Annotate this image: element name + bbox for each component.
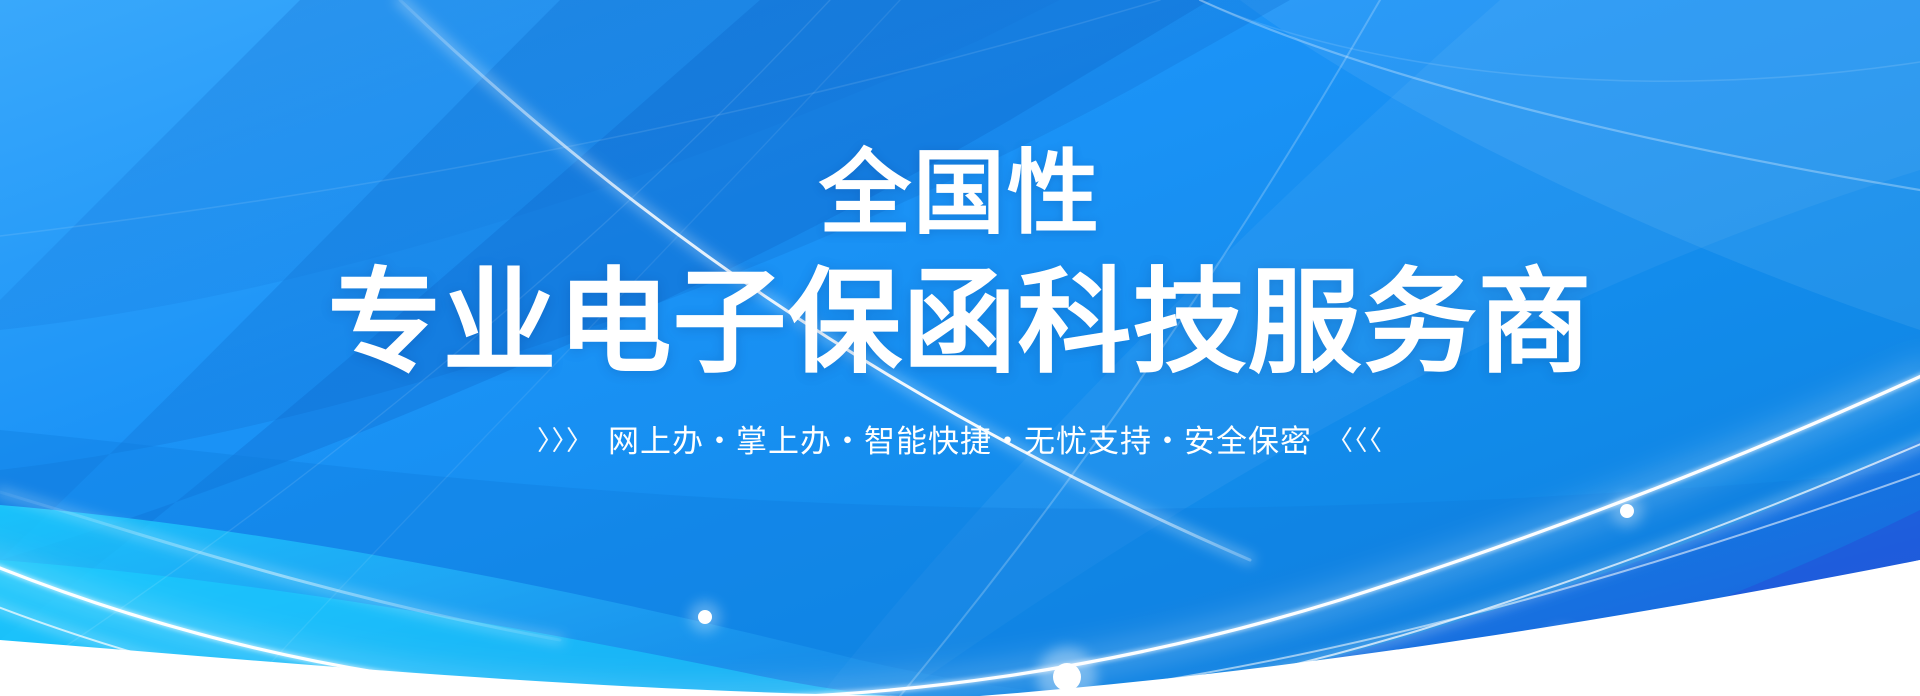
hero-banner: 全国性 专业电子保函科技服务商 〉〉〉 网上办・掌上办・智能快捷・无忧支持・安全… [0,0,1920,696]
background-artwork [0,0,1920,696]
